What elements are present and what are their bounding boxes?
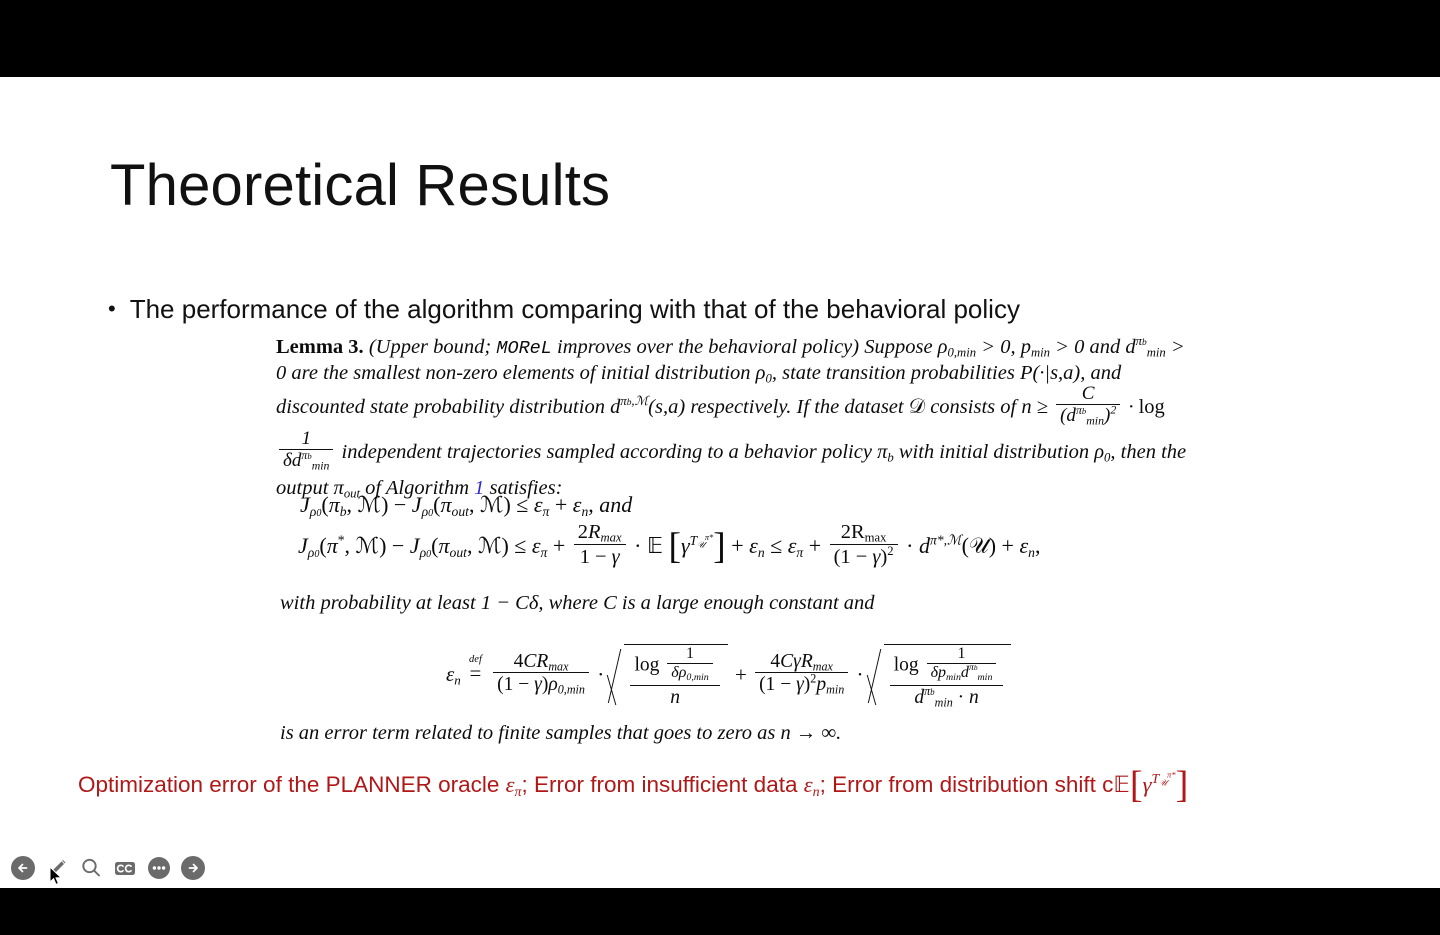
forward-arrow-icon[interactable]	[180, 855, 206, 881]
red-annotation-note: Optimization error of the PLANNER oracle…	[78, 765, 1188, 807]
equation-2: Jρ0(π*, ℳ) − Jρ0(πout, ℳ) ≤ επ + 2Rmax 1…	[298, 524, 1040, 572]
math-frac-4CgammaRmax: 4CγRmax (1 − γ)2pmin	[755, 651, 848, 697]
math-pi-b: πb	[877, 441, 894, 463]
math-frac-2Rmax-over-1minusgamma: 2Rmax 1 − γ	[574, 521, 626, 569]
lemma-label: Lemma 3.	[276, 336, 364, 358]
equation-1: Jρ0(πb, ℳ) − Jρ0(πout, ℳ) ≤ επ + εn, and	[300, 492, 632, 518]
math-rho-0-min: ρ0,min	[938, 336, 976, 358]
video-player-frame: Theoretical Results • The performance of…	[0, 0, 1440, 935]
math-minus-C-delta: − Cδ	[496, 592, 538, 614]
math-P-cond: P(·|s,a)	[1020, 362, 1080, 384]
back-arrow-icon[interactable]	[10, 855, 36, 881]
lemma-line2-c: , state transition probabilities	[772, 362, 1015, 384]
lemma-probability-line: with probability at least 1 − Cδ, where …	[280, 592, 875, 615]
red-note-part2: ; Error from insufficient data	[522, 772, 804, 797]
more-options-icon[interactable]	[146, 855, 172, 881]
math-rho-0: ρ0	[756, 362, 772, 384]
lemma-line2-a: and	[1089, 336, 1125, 358]
math-epsilon-pi: επ	[506, 772, 522, 797]
math-d-pib-min: dπbmin	[1125, 336, 1165, 358]
math-bracket-close: ]	[1176, 764, 1189, 806]
bullet-item: • The performance of the algorithm compa…	[108, 293, 1020, 325]
page-title: Theoretical Results	[110, 154, 610, 218]
lemma-line4-b: independent trajectories sampled accordi…	[336, 441, 877, 463]
math-d-pib-M: dπb,ℳ(s,a)	[610, 396, 685, 418]
math-frac-2Rmax-over-1minusgamma-sq: 2Rmax (1 − γ)2	[830, 521, 898, 569]
lemma-block: Lemma 3. (Upper bound; MOReL improves ov…	[276, 335, 1188, 501]
lemma-line4-a: consists of	[930, 396, 1021, 418]
lemma-line5-a: with initial distribution	[899, 441, 1094, 463]
math-dataset-D: 𝒟	[909, 396, 925, 418]
letterbox-bottom-bar	[0, 888, 1440, 935]
algorithm-name: MOReL	[496, 338, 552, 359]
red-note-part1: Optimization error of the PLANNER oracle	[78, 772, 506, 797]
math-sqrt-first: log 1 δρ0,min n	[611, 644, 727, 709]
math-sqrt-second: log 1 δpmindπbmin dπbmin · n	[871, 644, 1012, 709]
closed-caption-icon[interactable]	[112, 855, 138, 881]
math-p-min: pmin	[1021, 336, 1050, 358]
math-rho-0-again: ρ0	[1094, 441, 1110, 463]
prob-line-prefix: with probability at least 1	[280, 592, 496, 614]
pen-icon[interactable]	[44, 855, 70, 881]
lemma-line1-tail-b: > 0	[1050, 336, 1084, 358]
math-frac-4CRmax: 4CRmax (1 − γ)ρ0,min	[493, 651, 589, 697]
lemma-paragraph: Lemma 3. (Upper bound; MOReL improves ov…	[276, 335, 1188, 501]
red-note-part3: ; Error from distribution shift c	[820, 772, 1114, 797]
math-epsilon-n: εn	[804, 772, 820, 797]
lemma-paren-open: (Upper bound;	[369, 336, 497, 358]
bullet-item-label: The performance of the algorithm compari…	[130, 293, 1020, 325]
lemma-final-line: is an error term related to finite sampl…	[280, 722, 841, 745]
presentation-slide: Theoretical Results • The performance of…	[0, 77, 1440, 888]
lemma-paren-rest: improves over the behavioral policy) Sup…	[552, 336, 938, 358]
search-icon[interactable]	[78, 855, 104, 881]
letterbox-top-bar	[0, 0, 1440, 77]
equation-3-epsilon-n-definition: εn def = 4CRmax (1 − γ)ρ0,min · log 1 δρ…	[446, 644, 1013, 709]
math-frac-C-over-dminsq: C (dπbmin)2	[1056, 383, 1120, 428]
zhihu-watermark: 知乎 @张楚珩	[1238, 767, 1422, 807]
bullet-marker-icon: •	[108, 293, 116, 325]
prob-line-suffix: , where C is a large enough constant and	[538, 592, 874, 614]
lemma-line1-tail-a: > 0,	[976, 336, 1021, 358]
lemma-line3-b: respectively. If the dataset	[685, 396, 909, 418]
math-bracket-open: [	[1130, 764, 1143, 806]
video-player-toolbar[interactable]	[0, 847, 1440, 888]
math-gamma-term: γT𝒰π*	[1143, 772, 1176, 797]
math-frac-one-over-deltad: 1 δdπbmin	[279, 428, 333, 473]
math-expectation-E: 𝔼	[1113, 772, 1129, 797]
